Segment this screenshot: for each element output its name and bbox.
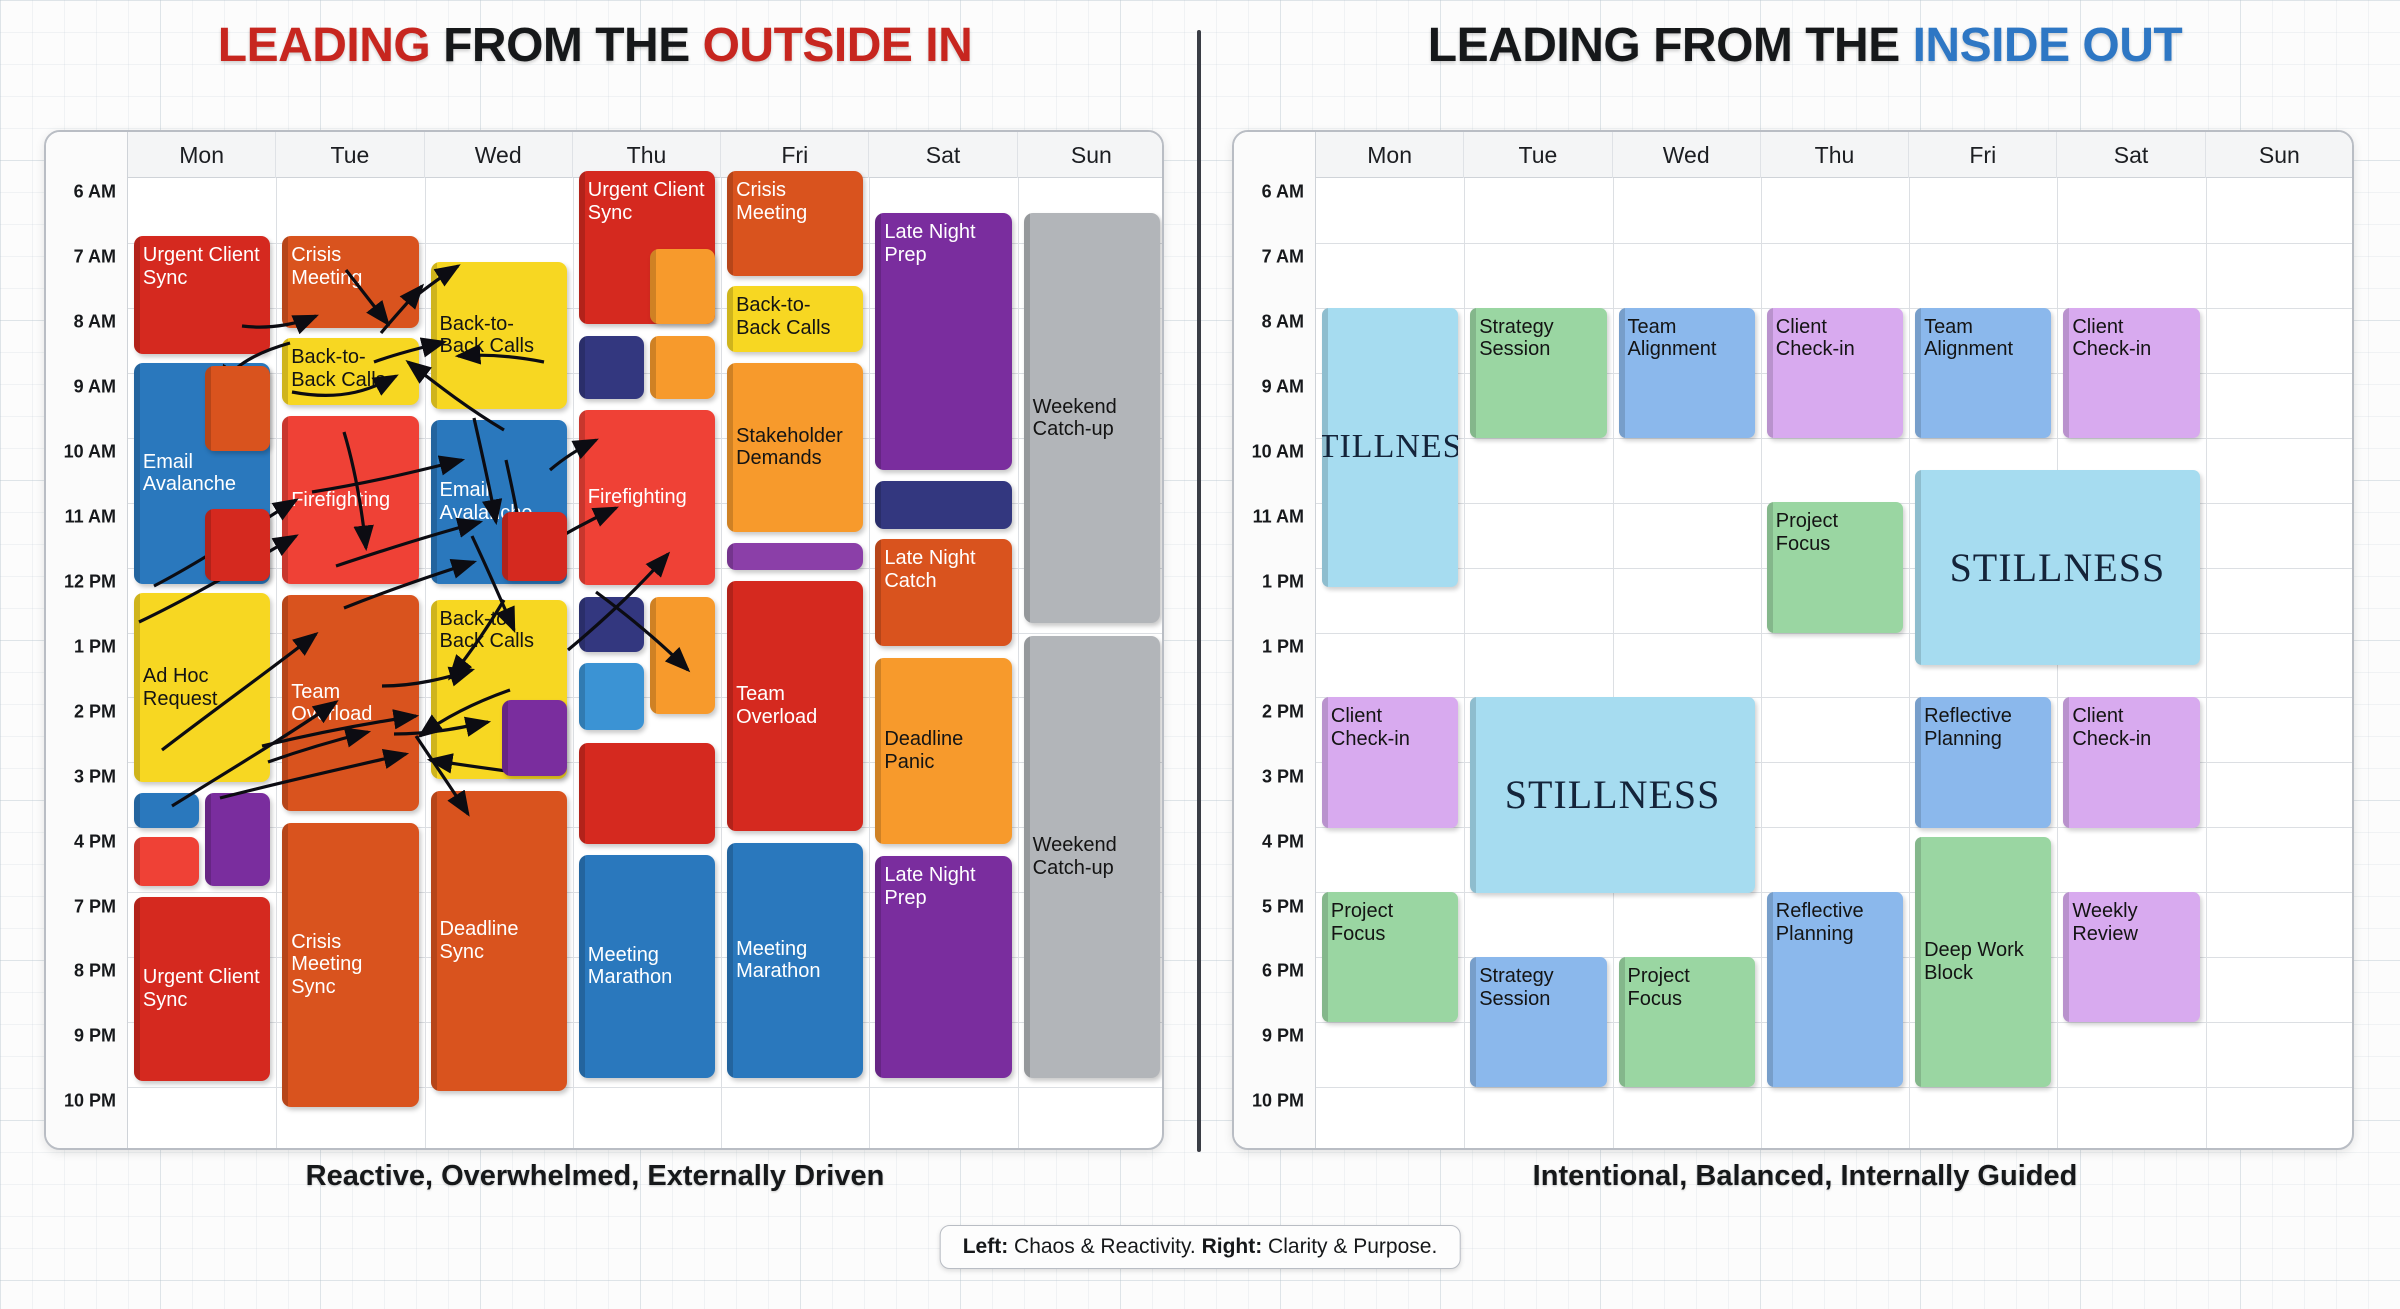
event-block-unlabeled[interactable]: [579, 663, 644, 730]
event-spine: [1915, 470, 1921, 665]
event-spine: [134, 236, 140, 353]
event-spine: [205, 793, 211, 886]
event-block-unlabeled[interactable]: [650, 336, 715, 399]
event-spine: [431, 600, 437, 779]
event-label: STILLNESS: [1322, 428, 1458, 466]
event-block-unlabeled[interactable]: [134, 837, 199, 886]
right-time-label: 10 PM: [1234, 1091, 1304, 1112]
left-time-label: 8 AM: [46, 312, 116, 333]
event-label: Strategy Session: [1479, 316, 1553, 361]
event-block-stillness[interactable]: STILLNESS: [1322, 308, 1458, 588]
event-label: Deep Work Block: [1924, 939, 2042, 984]
event-label: Weekend Catch-up: [1033, 834, 1151, 879]
event-spine: [134, 897, 140, 1081]
event-block-deep-work-block[interactable]: Deep Work Block: [1915, 837, 2051, 1087]
right-time-label: 10 AM: [1234, 442, 1304, 463]
right-day-header-thu[interactable]: Thu: [1761, 132, 1909, 178]
left-column-divider: [1018, 178, 1019, 1148]
event-label: Late Night Catch: [884, 547, 975, 592]
event-spine: [134, 793, 140, 828]
event-label: Client Check-in: [2072, 705, 2151, 750]
event-label: Urgent Client Sync: [143, 244, 260, 289]
event-spine: [579, 663, 585, 730]
event-block-team-alignment[interactable]: Team Alignment: [1619, 308, 1755, 438]
event-spine: [1322, 697, 1328, 827]
event-block-crisis-meeting[interactable]: Crisis Meeting: [282, 236, 418, 327]
right-time-label: 5 PM: [1234, 896, 1304, 917]
event-label: Project Focus: [1628, 965, 1690, 1010]
right-panel-title: LEADING FROM THE INSIDE OUT: [1210, 18, 2400, 73]
event-spine: [727, 286, 733, 351]
event-spine: [1915, 308, 1921, 438]
event-block-weekly-review[interactable]: Weekly Review: [2063, 892, 2199, 1022]
infographic-stage: LEADING FROM THE OUTSIDE IN LEADING FROM…: [0, 0, 2400, 1309]
footer-left-text: Chaos & Reactivity.: [1008, 1235, 1201, 1258]
event-block-back-to-back-calls[interactable]: Back-to-Back Calls: [282, 338, 418, 405]
event-spine: [1915, 697, 1921, 827]
footer-right-text: Clarity & Purpose.: [1262, 1235, 1437, 1258]
event-block-stakeholder-demands[interactable]: Stakeholder Demands: [727, 363, 863, 532]
event-label: Crisis Meeting Sync: [291, 931, 409, 999]
event-block-unlabeled[interactable]: [650, 597, 715, 714]
event-spine: [502, 700, 508, 775]
event-block-unlabeled[interactable]: [502, 512, 567, 581]
event-block-reflective-planning[interactable]: Reflective Planning: [1915, 697, 2051, 827]
event-label: Crisis Meeting: [291, 244, 362, 289]
event-block-project-focus[interactable]: Project Focus: [1619, 957, 1755, 1087]
right-day-header-mon[interactable]: Mon: [1316, 132, 1464, 178]
event-label: Reflective Planning: [1776, 900, 1864, 945]
event-label: Project Focus: [1776, 510, 1838, 555]
event-label: Team Alignment: [1924, 316, 2013, 361]
left-time-label: 1 PM: [46, 636, 116, 657]
event-block-unlabeled[interactable]: [134, 793, 199, 828]
event-label: Back-to-Back Calls: [291, 346, 385, 391]
event-spine: [2063, 697, 2069, 827]
event-block-unlabeled[interactable]: [650, 249, 715, 324]
event-label: Team Overload: [736, 683, 854, 728]
right-column-divider: [1761, 178, 1762, 1148]
event-block-unlabeled[interactable]: [579, 743, 715, 844]
event-block-unlabeled[interactable]: [579, 336, 644, 399]
event-label: Firefighting: [291, 489, 390, 512]
right-time-label: 2 PM: [1234, 701, 1304, 722]
event-block-crisis-meeting[interactable]: Crisis Meeting: [727, 171, 863, 275]
event-spine: [134, 593, 140, 782]
left-column-divider: [276, 178, 277, 1148]
right-day-header-fri[interactable]: Fri: [1909, 132, 2057, 178]
event-spine: [727, 171, 733, 275]
event-block-urgent-client-sync[interactable]: Urgent Client Sync: [134, 897, 270, 1081]
right-time-label: 9 AM: [1234, 377, 1304, 398]
footer-right-label: Right:: [1202, 1235, 1263, 1258]
event-label: Urgent Client Sync: [143, 966, 261, 1011]
event-block-unlabeled[interactable]: [875, 481, 1011, 529]
event-label: STILLNESS: [1950, 545, 2166, 590]
event-label: Team Overload: [291, 681, 409, 726]
event-spine: [282, 338, 288, 405]
right-time-label: 8 AM: [1234, 312, 1304, 333]
left-calendar: MonTueWedThuFriSatSun6 AM7 AM8 AM9 AM10 …: [44, 130, 1164, 1150]
event-label: Weekly Review: [2072, 900, 2138, 945]
left-time-label: 10 PM: [46, 1091, 116, 1112]
event-block-crisis-meeting-sync[interactable]: Crisis Meeting Sync: [282, 823, 418, 1107]
event-block-team-overload[interactable]: Team Overload: [727, 581, 863, 831]
right-time-label: 1 PM: [1234, 571, 1304, 592]
right-time-label: 9 PM: [1234, 1026, 1304, 1047]
event-block-late-night-prep[interactable]: Late Night Prep: [875, 856, 1011, 1077]
event-label: Meeting Marathon: [588, 944, 706, 989]
event-block-unlabeled[interactable]: [502, 700, 567, 775]
left-time-label: 6 AM: [46, 182, 116, 203]
event-label: Strategy Session: [1479, 965, 1553, 1010]
event-spine: [282, 823, 288, 1107]
event-block-strategy-session[interactable]: Strategy Session: [1470, 308, 1606, 438]
event-block-unlabeled[interactable]: [205, 509, 270, 581]
event-spine: [727, 543, 733, 569]
event-block-back-to-back-calls[interactable]: Back-to-Back Calls: [431, 262, 567, 409]
left-time-label: 4 PM: [46, 831, 116, 852]
event-spine: [2063, 892, 2069, 1022]
event-block-unlabeled[interactable]: [579, 597, 644, 653]
right-column-divider: [1909, 178, 1910, 1148]
footer-legend: Left: Chaos & Reactivity. Right: Clarity…: [940, 1225, 1461, 1269]
right-time-label: 3 PM: [1234, 766, 1304, 787]
left-column-divider: [721, 178, 722, 1148]
event-label: Meeting Marathon: [736, 938, 854, 983]
event-spine: [875, 856, 881, 1077]
left-day-header-wed[interactable]: Wed: [425, 132, 573, 178]
right-caption: Intentional, Balanced, Internally Guided: [1210, 1160, 2400, 1193]
event-spine: [579, 597, 585, 653]
right-time-label: 4 PM: [1234, 831, 1304, 852]
event-block-firefighting[interactable]: Firefighting: [282, 416, 418, 584]
right-time-label: 6 AM: [1234, 182, 1304, 203]
left-time-label: 8 PM: [46, 961, 116, 982]
event-spine: [1470, 957, 1476, 1087]
left-panel-title: LEADING FROM THE OUTSIDE IN: [0, 18, 1190, 73]
right-column-divider: [1613, 178, 1614, 1148]
event-block-weekend-catch-up[interactable]: Weekend Catch-up: [1024, 213, 1160, 623]
event-block-client-check-in[interactable]: Client Check-in: [1322, 697, 1458, 827]
event-spine: [650, 597, 656, 714]
right-calendar: MonTueWedThuFriSatSun6 AM7 AM8 AM9 AM10 …: [1232, 130, 2354, 1150]
event-block-urgent-client-sync[interactable]: Urgent Client Sync: [134, 236, 270, 353]
left-time-label: 7 PM: [46, 896, 116, 917]
event-spine: [134, 837, 140, 886]
right-day-header-sat[interactable]: Sat: [2057, 132, 2205, 178]
event-spine: [282, 416, 288, 584]
event-spine: [134, 363, 140, 584]
event-spine: [727, 363, 733, 532]
event-block-team-overload[interactable]: Team Overload: [282, 595, 418, 811]
event-spine: [1024, 213, 1030, 623]
event-block-reflective-planning[interactable]: Reflective Planning: [1767, 892, 1903, 1087]
event-block-meeting-marathon[interactable]: Meeting Marathon: [579, 855, 715, 1078]
event-spine: [579, 336, 585, 399]
event-spine: [2063, 308, 2069, 438]
event-spine: [1767, 308, 1773, 438]
right-hour-line: [1316, 1087, 2352, 1088]
event-block-client-check-in[interactable]: Client Check-in: [2063, 308, 2199, 438]
right-time-label: 6 PM: [1234, 961, 1304, 982]
event-spine: [1915, 837, 1921, 1087]
event-spine: [205, 366, 211, 451]
event-spine: [875, 481, 881, 529]
event-spine: [650, 249, 656, 324]
left-time-label: 2 PM: [46, 701, 116, 722]
event-block-client-check-in[interactable]: Client Check-in: [1767, 308, 1903, 438]
left-time-label: 10 AM: [46, 442, 116, 463]
right-column-divider: [1464, 178, 1465, 1148]
left-day-header-tue[interactable]: Tue: [276, 132, 424, 178]
event-spine: [579, 171, 585, 324]
left-time-label: 3 PM: [46, 766, 116, 787]
event-spine: [875, 213, 881, 470]
event-label: Urgent Client Sync: [588, 179, 705, 224]
event-block-client-check-in[interactable]: Client Check-in: [2063, 697, 2199, 827]
left-time-label: 7 AM: [46, 247, 116, 268]
left-time-label: 9 PM: [46, 1026, 116, 1047]
event-label: Late Night Prep: [884, 864, 975, 909]
event-spine: [1322, 892, 1328, 1022]
event-label: Client Check-in: [1331, 705, 1410, 750]
event-spine: [1619, 308, 1625, 438]
event-label: Stakeholder Demands: [736, 425, 854, 470]
event-spine: [431, 420, 437, 584]
event-spine: [1767, 502, 1773, 632]
panel-divider: [1197, 30, 1201, 1152]
event-block-deadline-panic[interactable]: Deadline Panic: [875, 658, 1011, 844]
event-label: Reflective Planning: [1924, 705, 2012, 750]
event-spine: [650, 336, 656, 399]
event-block-project-focus[interactable]: Project Focus: [1322, 892, 1458, 1022]
event-spine: [431, 791, 437, 1090]
left-caption: Reactive, Overwhelmed, Externally Driven: [0, 1160, 1190, 1193]
event-spine: [282, 236, 288, 327]
event-label: STILLNESS: [1505, 772, 1721, 817]
event-block-deadline-sync[interactable]: Deadline Sync: [431, 791, 567, 1090]
event-spine: [875, 658, 881, 844]
event-spine: [579, 410, 585, 586]
event-spine: [1619, 957, 1625, 1087]
event-spine: [431, 262, 437, 409]
event-block-late-night-prep[interactable]: Late Night Prep: [875, 213, 1011, 470]
event-label: Email Avalanche: [143, 451, 261, 496]
event-spine: [1470, 308, 1476, 438]
event-block-stillness[interactable]: STILLNESS: [1470, 697, 1755, 892]
left-column-divider: [869, 178, 870, 1148]
left-title-part-2: FROM THE: [430, 19, 702, 72]
event-spine: [727, 581, 733, 831]
left-time-label: 9 AM: [46, 377, 116, 398]
right-column-divider: [2206, 178, 2207, 1148]
event-label: Deadline Sync: [440, 918, 558, 963]
event-spine: [1767, 892, 1773, 1087]
left-column-divider: [425, 178, 426, 1148]
event-block-unlabeled[interactable]: [205, 366, 270, 451]
event-block-unlabeled[interactable]: [205, 793, 270, 886]
event-block-project-focus[interactable]: Project Focus: [1767, 502, 1903, 632]
event-label: Client Check-in: [2072, 316, 2151, 361]
event-block-ad-hoc-request[interactable]: Ad Hoc Request: [134, 593, 270, 782]
event-spine: [727, 843, 733, 1077]
event-label: Project Focus: [1331, 900, 1393, 945]
event-block-unlabeled[interactable]: [727, 543, 863, 569]
right-day-header-tue[interactable]: Tue: [1464, 132, 1612, 178]
left-day-header-sat[interactable]: Sat: [869, 132, 1017, 178]
event-spine: [579, 855, 585, 1078]
event-block-weekend-catch-up[interactable]: Weekend Catch-up: [1024, 636, 1160, 1078]
event-block-stillness[interactable]: STILLNESS: [1915, 470, 2200, 665]
event-label: Ad Hoc Request: [143, 665, 261, 710]
left-time-label: 12 PM: [46, 571, 116, 592]
left-day-header-sun[interactable]: Sun: [1018, 132, 1164, 178]
event-spine: [1470, 697, 1476, 892]
right-day-header-sun[interactable]: Sun: [2206, 132, 2354, 178]
event-spine: [282, 595, 288, 811]
right-title-part-2: INSIDE OUT: [1913, 19, 2183, 72]
event-block-strategy-session[interactable]: Strategy Session: [1470, 957, 1606, 1087]
event-label: Client Check-in: [1776, 316, 1855, 361]
left-day-header-mon[interactable]: Mon: [128, 132, 276, 178]
left-title-part-3: OUTSIDE IN: [703, 19, 973, 72]
right-time-label: 11 AM: [1234, 506, 1304, 527]
footer-left-label: Left:: [963, 1235, 1009, 1258]
right-day-header-wed[interactable]: Wed: [1613, 132, 1761, 178]
event-label: Back-to-Back Calls: [736, 294, 830, 339]
event-block-firefighting[interactable]: Firefighting: [579, 410, 715, 586]
event-block-back-to-back-calls[interactable]: Back-to-Back Calls: [727, 286, 863, 351]
event-label: Weekend Catch-up: [1033, 396, 1151, 441]
right-title-part-1: LEADING FROM THE: [1428, 19, 1913, 72]
event-spine: [875, 539, 881, 645]
event-spine: [1024, 636, 1030, 1078]
left-title-part-1: LEADING: [218, 19, 431, 72]
event-block-meeting-marathon[interactable]: Meeting Marathon: [727, 843, 863, 1077]
event-label: Back-to-Back Calls: [440, 313, 558, 358]
event-block-team-alignment[interactable]: Team Alignment: [1915, 308, 2051, 438]
event-label: Late Night Prep: [884, 221, 975, 266]
left-time-label: 11 AM: [46, 506, 116, 527]
event-spine: [502, 512, 508, 581]
event-block-late-night-catch[interactable]: Late Night Catch: [875, 539, 1011, 645]
right-time-label: 1 PM: [1234, 636, 1304, 657]
right-time-label: 7 AM: [1234, 247, 1304, 268]
event-label: Deadline Panic: [884, 728, 1002, 773]
event-label: Team Alignment: [1628, 316, 1717, 361]
left-column-divider: [573, 178, 574, 1148]
event-label: Back-to-Back Calls: [440, 608, 534, 653]
event-spine: [205, 509, 211, 581]
right-hour-line: [1316, 243, 2352, 244]
event-label: Crisis Meeting: [736, 179, 807, 224]
event-spine: [579, 743, 585, 844]
event-label: Firefighting: [588, 486, 687, 509]
